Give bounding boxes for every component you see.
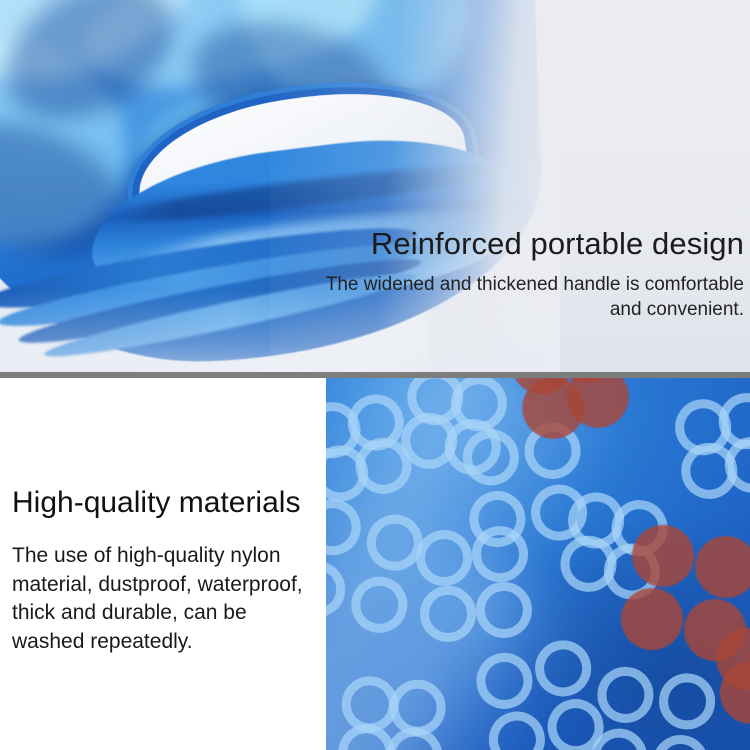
- clover-pattern-icon: [414, 524, 534, 644]
- top-panel-subline: The widened and thickened handle is comf…: [324, 272, 744, 322]
- top-panel-headline: Reinforced portable design: [324, 224, 744, 263]
- bottom-left-panel: High-quality materials The use of high-q…: [0, 378, 326, 750]
- product-feature-image: Reinforced portable design The widened a…: [0, 0, 750, 750]
- clover-pattern-icon: [672, 390, 750, 503]
- top-panel-text: Reinforced portable design The widened a…: [324, 224, 744, 322]
- clover-pattern-icon: [336, 674, 447, 750]
- bottom-right-panel: [326, 378, 750, 750]
- material-body-text: The use of high-quality nylon material, …: [12, 542, 324, 656]
- top-panel: Reinforced portable design The widened a…: [0, 0, 750, 372]
- clover-pattern-icon: [588, 664, 718, 750]
- bottom-left-text: High-quality materials The use of high-q…: [12, 486, 324, 656]
- material-heading: High-quality materials: [12, 486, 324, 520]
